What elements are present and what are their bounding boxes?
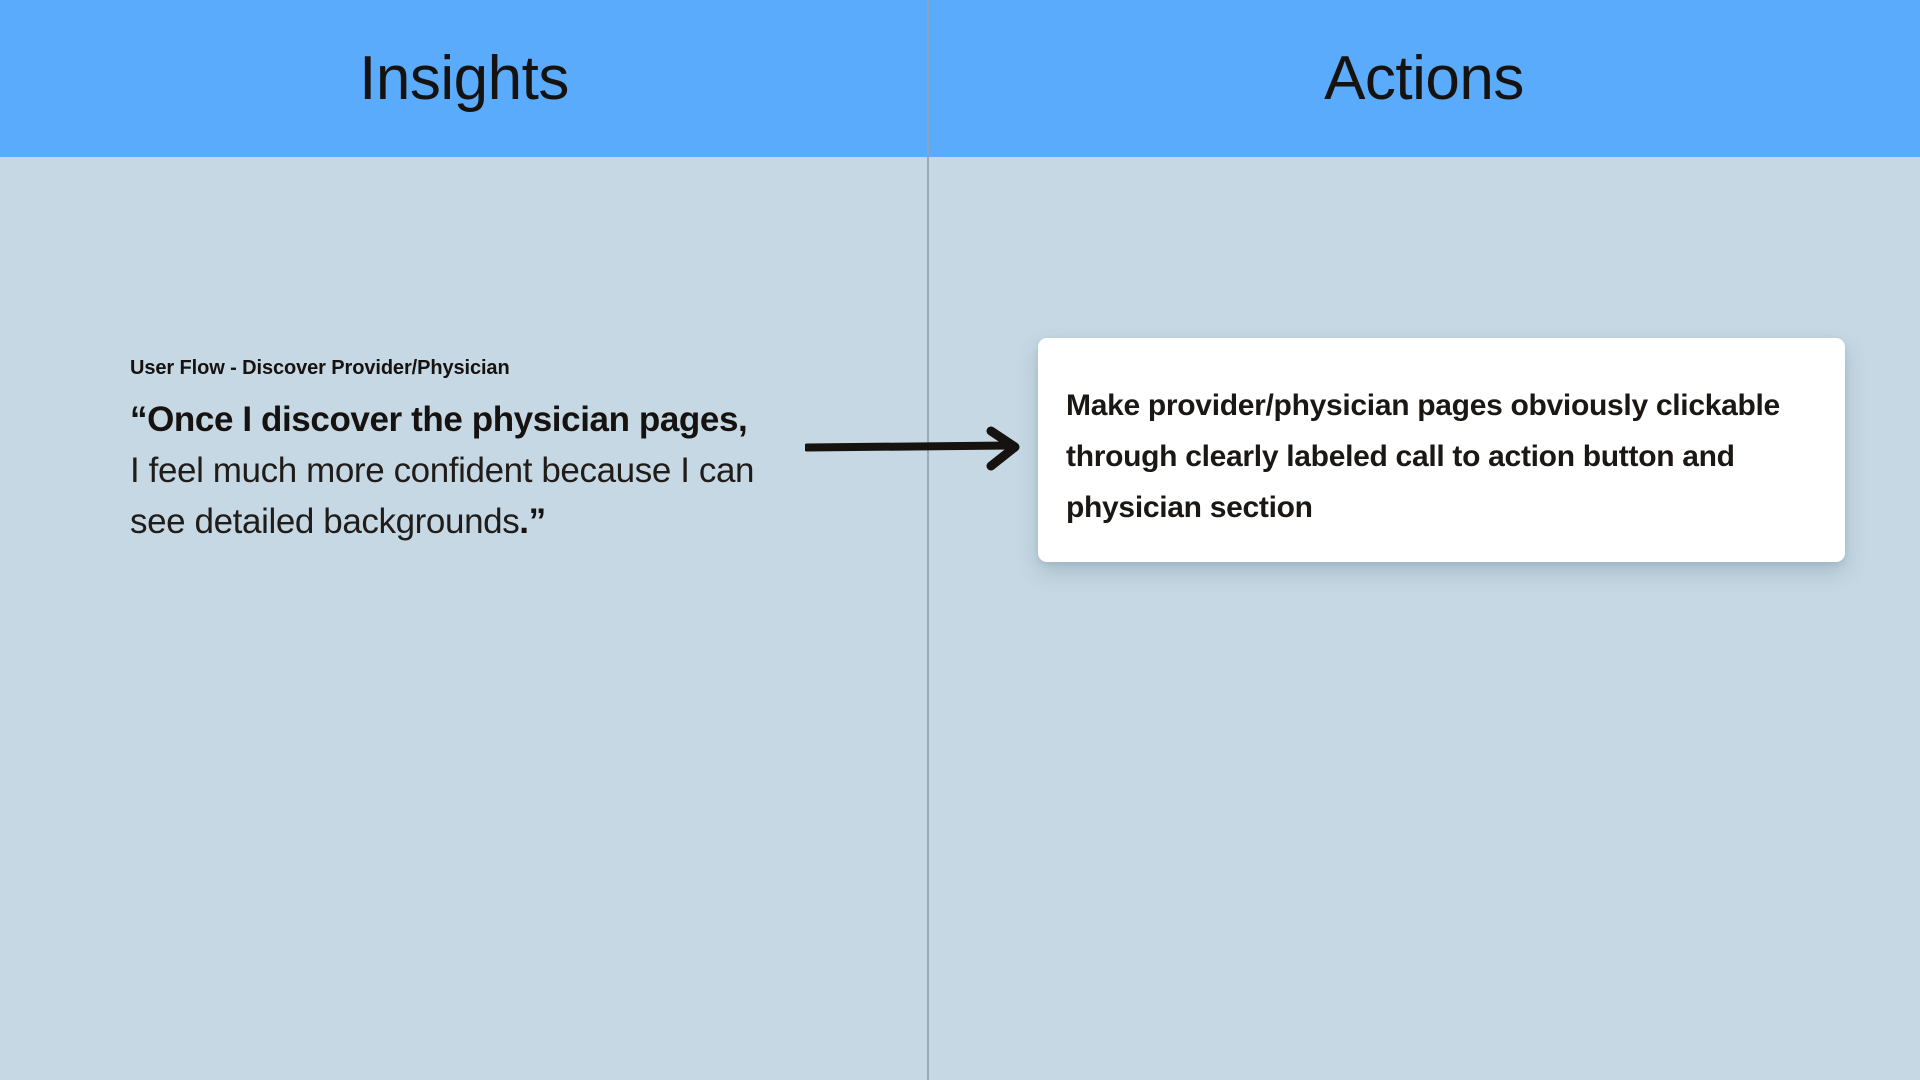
header-band: Insights Actions bbox=[0, 0, 1920, 157]
page-title-insights: Insights bbox=[359, 48, 569, 110]
column-divider bbox=[927, 0, 929, 1080]
insight-block: User Flow - Discover Provider/Physician … bbox=[130, 356, 830, 547]
action-card-text: Make provider/physician pages obviously … bbox=[1066, 380, 1815, 533]
insight-quote: “Once I discover the physician pages, I … bbox=[130, 394, 830, 547]
insights-actions-board: Insights Actions User Flow - Discover Pr… bbox=[0, 0, 1920, 1080]
insight-quote-closing: .” bbox=[519, 502, 545, 541]
insight-quote-emphasis-line: “Once I discover the physician pages, bbox=[130, 400, 747, 439]
page-title-actions: Actions bbox=[1324, 48, 1524, 110]
action-card[interactable]: Make provider/physician pages obviously … bbox=[1038, 338, 1845, 562]
arrow-right-icon bbox=[805, 418, 1025, 478]
insight-quote-body-line-2: see detailed backgrounds bbox=[130, 502, 519, 541]
arrow-right-icon-svg bbox=[805, 418, 1025, 478]
insight-quote-body-line-1: I feel much more confident because I can bbox=[130, 451, 754, 490]
header-column-actions: Actions bbox=[928, 0, 1920, 157]
insight-eyebrow-label: User Flow - Discover Provider/Physician bbox=[130, 356, 830, 380]
header-column-insights: Insights bbox=[0, 0, 928, 157]
